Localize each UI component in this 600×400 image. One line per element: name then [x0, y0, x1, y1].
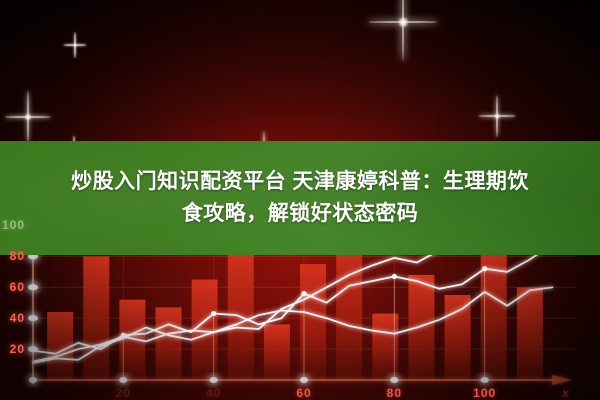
x-axis-tick-label: 80 [387, 386, 402, 400]
y-axis-tick-label: 20 [10, 342, 25, 356]
y-axis-tick-label: 100 [2, 218, 25, 232]
x-axis-tick-label: 40 [206, 386, 221, 400]
banner-image: 炒股入门知识配资平台 天津康婷科普：生理期饮 食攻略，解锁好状态密码 20406… [0, 0, 600, 400]
x-axis-tick-label: 20 [116, 386, 131, 400]
x-axis-tick-label: 60 [296, 386, 311, 400]
page-title: 炒股入门知识配资平台 天津康婷科普：生理期饮 食攻略，解锁好状态密码 [0, 141, 600, 255]
title-line-1: 炒股入门知识配资平台 天津康婷科普：生理期饮 [71, 169, 529, 195]
y-axis-tick-label: 80 [10, 249, 25, 263]
x-axis-name: x [562, 386, 570, 400]
y-axis-tick-label: 60 [10, 280, 25, 294]
y-axis-tick-label: 40 [10, 311, 25, 325]
x-axis-tick-label: 100 [473, 386, 496, 400]
headline-banner: 炒股入门知识配资平台 天津康婷科普：生理期饮 食攻略，解锁好状态密码 [0, 141, 600, 255]
title-line-2: 食攻略，解锁好状态密码 [182, 201, 419, 227]
